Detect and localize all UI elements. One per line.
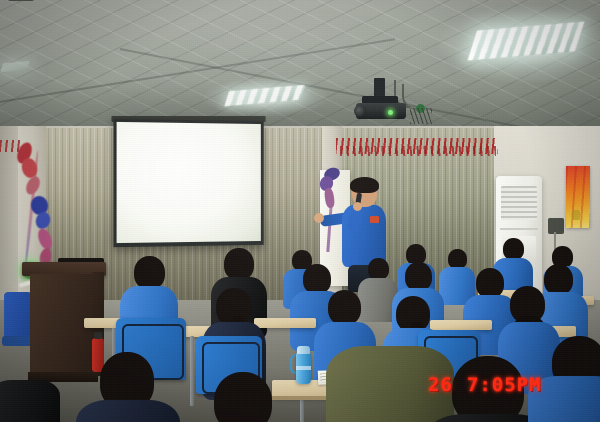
presenter-hair — [350, 177, 379, 193]
head — [214, 372, 272, 422]
garland-decoration — [340, 146, 496, 156]
projector-mount — [374, 78, 385, 98]
timestamp-time: 7:05PM — [467, 374, 542, 396]
head — [544, 264, 573, 295]
ceiling-light-right — [474, 26, 578, 56]
head — [448, 249, 467, 269]
presenter-badge — [370, 216, 379, 223]
air-conditioner-top — [8, 0, 34, 1]
projector — [352, 78, 414, 124]
head — [476, 268, 504, 298]
ceiling-wiring — [410, 108, 432, 124]
projector-lens-icon — [354, 105, 366, 117]
thermos-band — [296, 366, 311, 370]
torso — [0, 380, 60, 422]
head — [303, 264, 331, 294]
air-conditioner-seam — [500, 228, 538, 230]
torso — [76, 400, 180, 422]
ceiling-light-left — [2, 62, 28, 71]
air-conditioner-vent — [501, 186, 537, 220]
fire-extinguisher-nozzle — [94, 332, 102, 339]
head — [368, 258, 389, 280]
light-panel — [0, 61, 30, 72]
desk — [430, 320, 492, 330]
desk — [254, 318, 316, 328]
poster-graphic — [572, 210, 580, 220]
projector-status-led — [388, 110, 393, 115]
wall-poster — [566, 166, 590, 228]
camera-timestamp: 26 7:05PM — [428, 374, 542, 396]
presenter-hand-left — [314, 213, 324, 223]
head — [134, 256, 165, 289]
timestamp-day: 26 — [428, 374, 453, 396]
desk-leg — [190, 336, 194, 406]
head — [224, 248, 254, 280]
wall-control-box[interactable] — [548, 218, 564, 234]
screen-surface — [117, 122, 261, 243]
head — [328, 290, 361, 325]
thermos-cap — [297, 346, 310, 354]
photograph: 26 7:05PM — [0, 0, 600, 422]
projection-screen — [114, 119, 264, 247]
head — [503, 238, 524, 260]
ceiling-light-center — [228, 88, 302, 103]
presenter-hand-right — [353, 202, 362, 211]
head — [405, 262, 432, 291]
